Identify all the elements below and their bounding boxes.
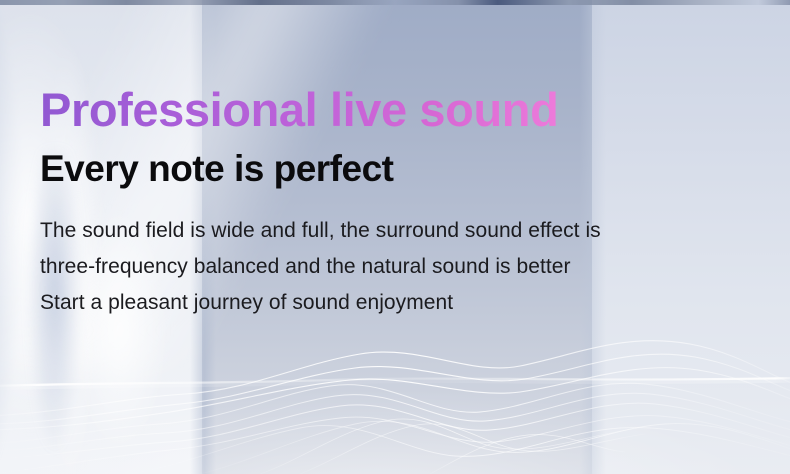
sound-wave-lines-icon — [0, 324, 790, 474]
body-copy-line-1: The sound field is wide and full, the su… — [40, 213, 760, 249]
page-title: Professional live sound — [40, 86, 760, 134]
body-copy: The sound field is wide and full, the su… — [40, 213, 760, 321]
hero-banner: Professional live sound Every note is pe… — [0, 0, 790, 474]
body-copy-line-3: Start a pleasant journey of sound enjoym… — [40, 285, 760, 321]
top-edge-strip — [0, 0, 790, 5]
page-subtitle: Every note is perfect — [40, 150, 760, 189]
copy-block: Professional live sound Every note is pe… — [40, 86, 760, 321]
body-copy-line-2: three-frequency balanced and the natural… — [40, 249, 760, 285]
